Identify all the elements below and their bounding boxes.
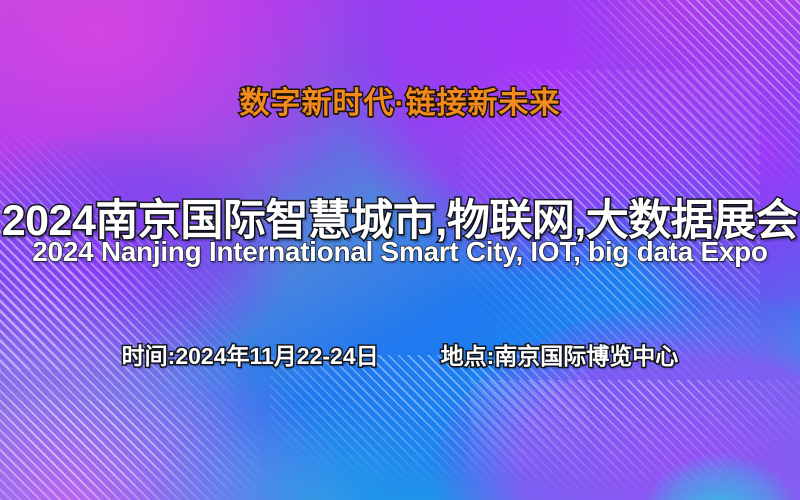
banner-content: 数字新时代·链接新未来 2024南京国际智慧城市,物联网,大数据展会 2024 … [0,0,800,500]
banner-meta-row: 时间:2024年11月22-24日 地点:南京国际博览中心 [0,337,800,371]
banner-venue: 地点:南京国际博览中心 [441,337,679,371]
banner-date: 时间:2024年11月22-24日 [122,337,379,371]
expo-banner: 数字新时代·链接新未来 2024南京国际智慧城市,物联网,大数据展会 2024 … [0,0,800,500]
banner-title-english: 2024 Nanjing International Smart City, I… [0,236,800,268]
banner-tagline: 数字新时代·链接新未来 [0,78,800,122]
